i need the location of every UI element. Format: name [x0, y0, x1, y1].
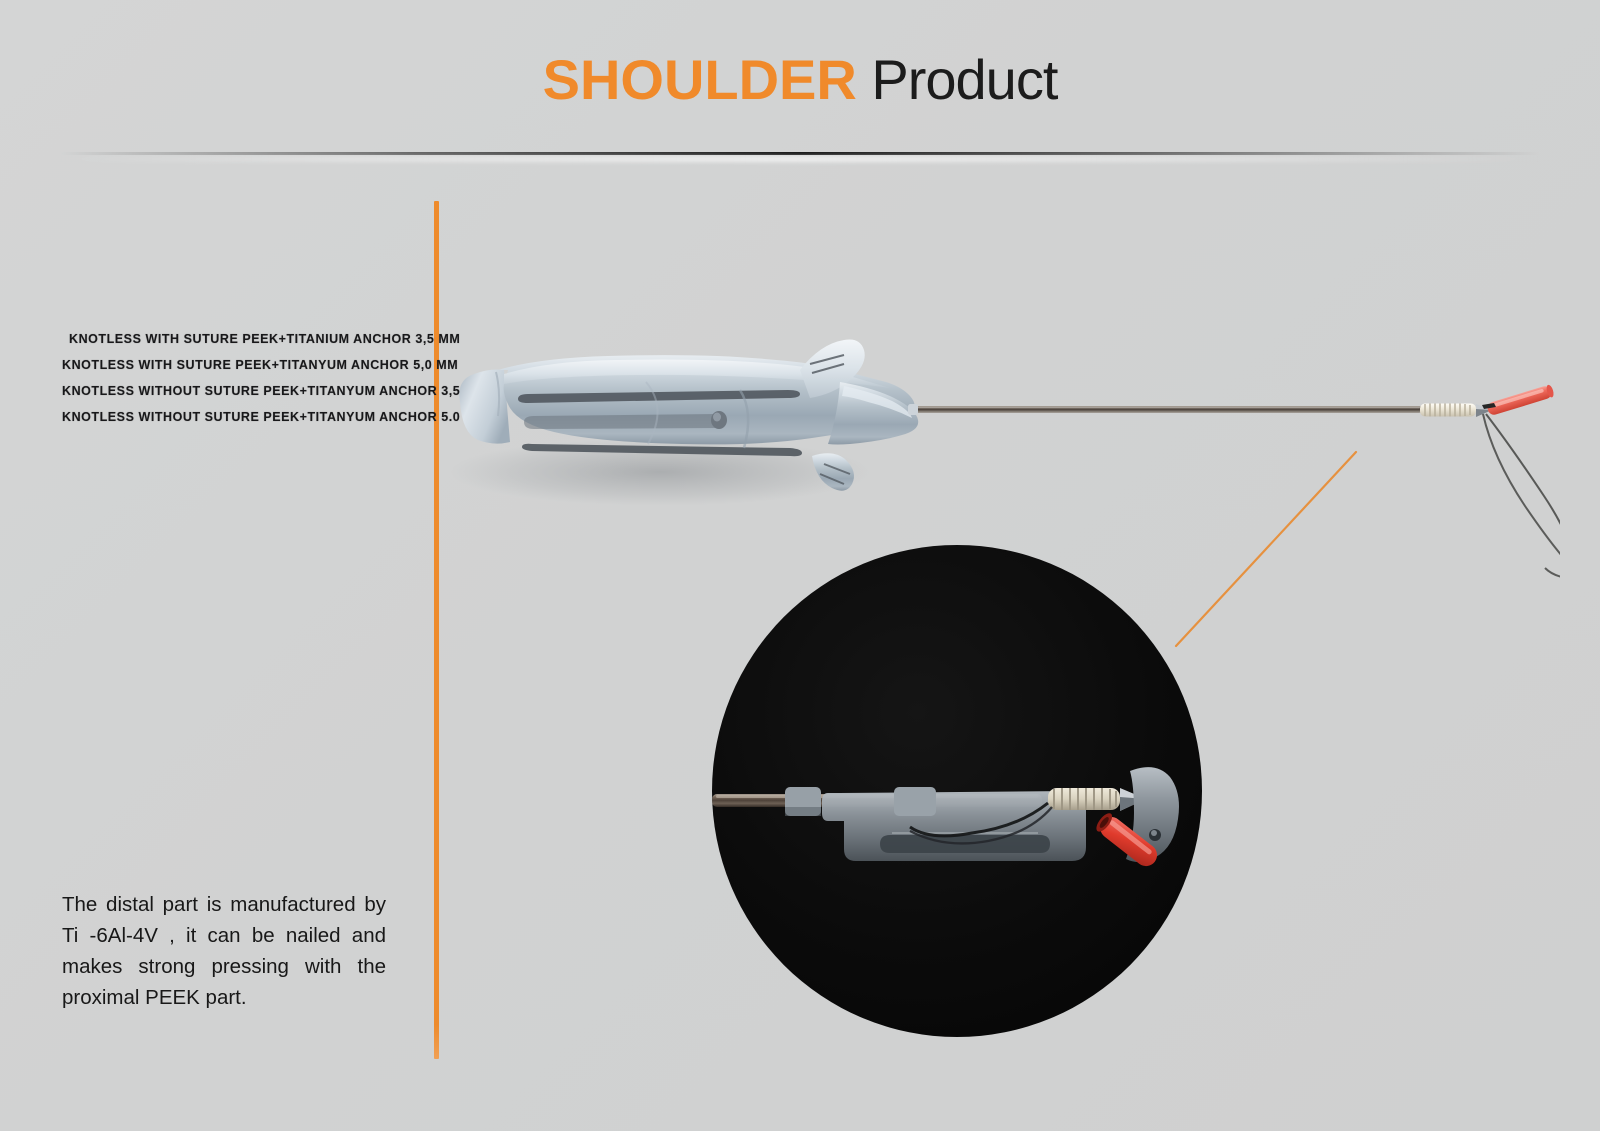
spec-list: KNOTLESS WITH SUTURE PEEK+TITANIUM ANCHO…	[62, 326, 442, 430]
handle-slot-middle	[524, 414, 726, 429]
page-title-accent: SHOULDER	[543, 48, 857, 111]
red-tip-cap	[1486, 384, 1555, 416]
header-divider-highlight	[60, 156, 1540, 162]
detail-jaw-pivot-highlight	[1151, 830, 1157, 836]
page-title-rest: Product	[857, 48, 1058, 111]
spec-list-item: KNOTLESS WITHOUT SUTURE PEEK+TITANYUM AN…	[62, 378, 442, 404]
page-title: SHOULDER Product	[0, 52, 1600, 108]
product-sheet-page: SHOULDER Product KNOTLESS WITH SUTURE PE…	[0, 0, 1600, 1131]
shaft-collar	[908, 404, 918, 415]
handle-centre-pin-highlight	[713, 413, 721, 422]
magnifier-circle	[712, 545, 1202, 1037]
detail-collar-mid	[894, 787, 936, 816]
spec-list-item: KNOTLESS WITH SUTURE PEEK+TITANYUM ANCHO…	[62, 352, 442, 378]
handle-butt-cap	[459, 370, 510, 444]
spec-list-item: KNOTLESS WITH SUTURE PEEK+TITANIUM ANCHO…	[62, 326, 442, 352]
header-divider	[60, 152, 1540, 155]
suture-loop-strand-a	[1483, 414, 1560, 568]
detail-collar-rear-shadow	[785, 807, 821, 816]
suture-loop-bottom	[1545, 568, 1560, 578]
magnifier-detail-illustration	[712, 545, 1202, 1037]
spec-list-item: KNOTLESS WITHOUT SUTURE PEEK+TITANYUM AN…	[62, 404, 442, 430]
description-text: The distal part is manufactured by Ti -6…	[62, 889, 386, 1013]
instrument-shaft-highlight	[914, 407, 1420, 409]
threaded-anchor	[1420, 404, 1476, 417]
detail-threaded-anchor	[1048, 788, 1120, 810]
suture-loop-strand-b	[1486, 414, 1560, 568]
